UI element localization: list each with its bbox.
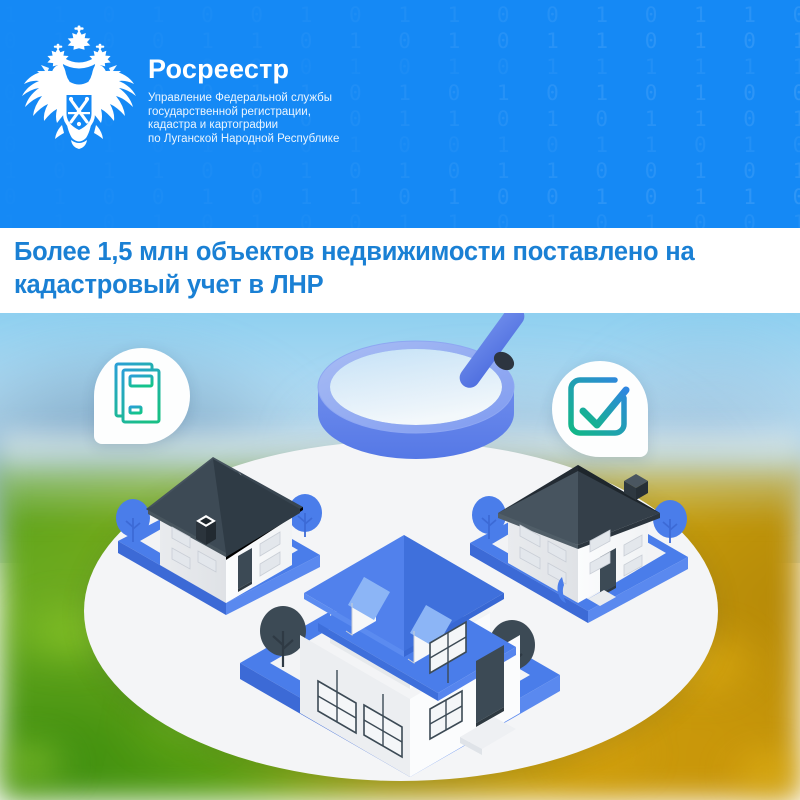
page-title: Более 1,5 млн объектов недвижимости пост… (14, 236, 790, 302)
header-banner: 1 1 0 1 0 0 1 0 1 1 0 0 1 0 1 1 0 1 0 1 … (0, 0, 800, 228)
checkmark-bubble[interactable] (552, 361, 648, 457)
headline-band: Более 1,5 млн объектов недвижимости пост… (0, 228, 800, 313)
brand-subtitle-line-2: государственной регистрации, (148, 106, 448, 120)
documents-icon (94, 348, 190, 444)
magnifier-icon (300, 313, 550, 475)
house-left (116, 457, 322, 615)
russian-double-headed-eagle-emblem (18, 24, 140, 150)
brand-title: Росреестр (148, 54, 568, 84)
brand-subtitle: Управление Федеральной службы государств… (148, 92, 448, 146)
poster-root: 1 1 0 1 0 0 1 0 1 1 0 0 1 0 1 1 0 1 0 1 … (0, 0, 800, 800)
brand-subtitle-line-3: кадастра и картографии (148, 119, 448, 133)
brand-block: Росреестр Управление Федеральной службы … (148, 54, 568, 146)
documents-bubble[interactable] (94, 348, 190, 444)
checkmark-icon (552, 361, 648, 457)
brand-subtitle-line-4: по Луганской Народной Республике (148, 133, 448, 147)
brand-subtitle-line-1: Управление Федеральной службы (148, 92, 448, 106)
tree-right-b (653, 500, 687, 543)
illustration-scene (0, 313, 800, 800)
